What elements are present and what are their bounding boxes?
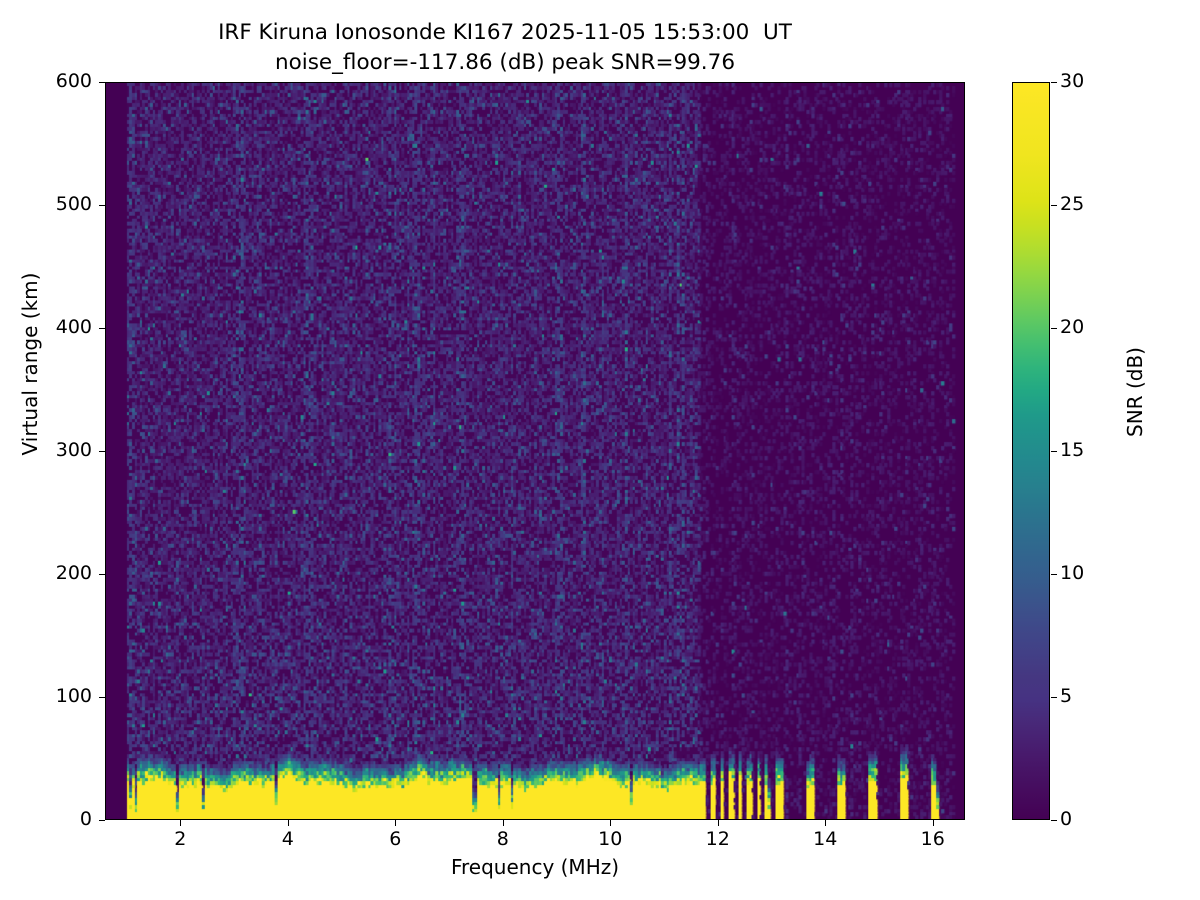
figure-title: IRF Kiruna Ionosonde KI167 2025-11-05 15… — [0, 18, 1010, 78]
colorbar-tick-mark — [1051, 820, 1057, 821]
ionogram-figure: IRF Kiruna Ionosonde KI167 2025-11-05 15… — [0, 0, 1200, 900]
colorbar-tick-mark — [1051, 697, 1057, 698]
x-tick-label: 16 — [903, 828, 963, 850]
title-line-1: IRF Kiruna Ionosonde KI167 2025-11-05 15… — [0, 18, 1010, 48]
colorbar-tick-mark — [1051, 328, 1057, 329]
x-tick-mark — [610, 820, 611, 826]
colorbar-tick-label: 30 — [1060, 70, 1084, 92]
x-axis-label: Frequency (MHz) — [105, 855, 965, 879]
x-tick-mark — [718, 820, 719, 826]
x-tick-mark — [395, 820, 396, 826]
x-tick-label: 10 — [580, 828, 640, 850]
colorbar-label: SNR (dB) — [1123, 277, 1147, 507]
colorbar-tick-label: 25 — [1060, 193, 1084, 215]
y-tick-mark — [99, 820, 105, 821]
y-tick-mark — [99, 574, 105, 575]
y-tick-label: 600 — [0, 70, 92, 92]
ionogram-heatmap-canvas — [106, 83, 964, 819]
x-tick-mark — [825, 820, 826, 826]
colorbar-tick-label: 5 — [1060, 685, 1072, 707]
x-tick-label: 14 — [795, 828, 855, 850]
colorbar-tick-mark — [1051, 451, 1057, 452]
colorbar — [1012, 82, 1050, 820]
y-tick-label: 500 — [0, 193, 92, 215]
colorbar-tick-mark — [1051, 574, 1057, 575]
y-tick-mark — [99, 205, 105, 206]
x-tick-label: 12 — [688, 828, 748, 850]
colorbar-tick-label: 20 — [1060, 316, 1084, 338]
heatmap-plot-area — [105, 82, 965, 820]
y-tick-label: 0 — [0, 808, 92, 830]
colorbar-tick-label: 10 — [1060, 562, 1084, 584]
y-tick-label: 400 — [0, 316, 92, 338]
y-tick-label: 100 — [0, 685, 92, 707]
y-tick-mark — [99, 697, 105, 698]
colorbar-tick-mark — [1051, 82, 1057, 83]
x-tick-mark — [180, 820, 181, 826]
y-axis-label: Virtual range (km) — [18, 249, 42, 479]
y-tick-mark — [99, 328, 105, 329]
y-tick-label: 300 — [0, 439, 92, 461]
colorbar-tick-label: 0 — [1060, 808, 1072, 830]
y-tick-label: 200 — [0, 562, 92, 584]
colorbar-tick-mark — [1051, 205, 1057, 206]
x-tick-mark — [933, 820, 934, 826]
colorbar-tick-label: 15 — [1060, 439, 1084, 461]
x-tick-label: 2 — [150, 828, 210, 850]
x-tick-label: 4 — [258, 828, 318, 850]
x-tick-label: 6 — [365, 828, 425, 850]
y-tick-mark — [99, 82, 105, 83]
x-tick-label: 8 — [473, 828, 533, 850]
title-line-2: noise_floor=-117.86 (dB) peak SNR=99.76 — [0, 48, 1010, 78]
y-tick-mark — [99, 451, 105, 452]
colorbar-gradient — [1013, 83, 1049, 819]
x-tick-mark — [288, 820, 289, 826]
x-tick-mark — [503, 820, 504, 826]
